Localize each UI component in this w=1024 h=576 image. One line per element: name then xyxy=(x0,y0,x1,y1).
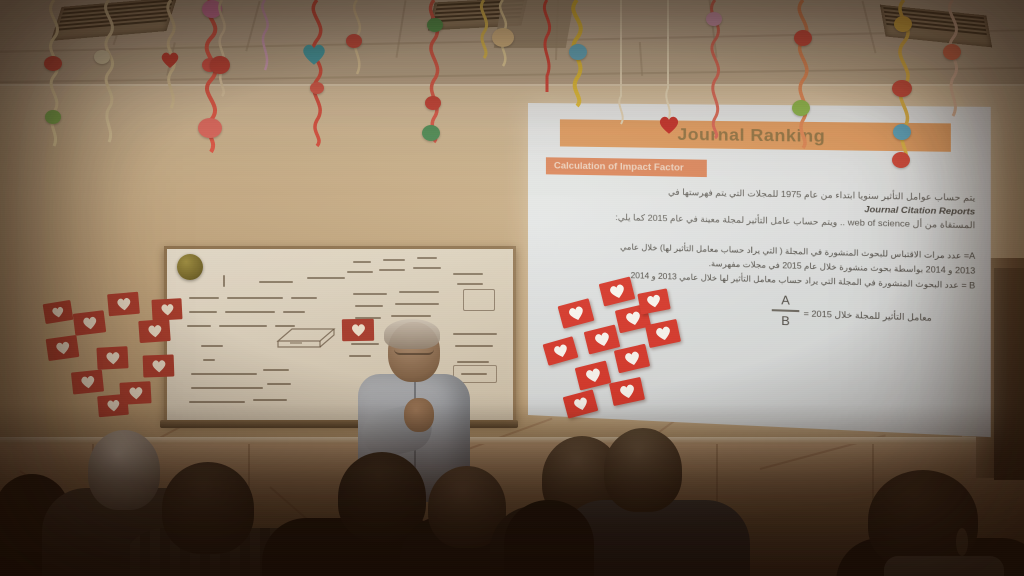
paper-dot xyxy=(893,124,911,140)
heart-card xyxy=(107,292,140,317)
fraction-numerator: A xyxy=(772,294,800,307)
paper-dot xyxy=(422,125,440,141)
paper-dot xyxy=(569,44,587,60)
spiral-ribbon-icon xyxy=(938,0,968,130)
audience-ear xyxy=(956,528,968,556)
paper-dot xyxy=(794,30,812,46)
spiral-ribbon-icon xyxy=(36,0,72,160)
paper-dot xyxy=(706,12,722,26)
spiral-ribbon-icon xyxy=(472,0,496,60)
paper-dot xyxy=(892,152,910,168)
paper-dot xyxy=(894,16,912,32)
impact-factor-formula-label: معامل التأثير للمجلة خلال 2015 = xyxy=(804,308,932,324)
paper-dot xyxy=(792,100,810,116)
heart-card xyxy=(143,354,175,377)
fraction-denominator: B xyxy=(772,314,800,327)
heart-card xyxy=(96,346,128,370)
whiteboard-boxed-result xyxy=(463,289,495,311)
spiral-ribbon-icon xyxy=(300,0,334,150)
audience-head xyxy=(88,430,160,510)
wainscot-cap-rail xyxy=(0,437,1024,444)
heart-card xyxy=(151,298,182,321)
paper-dot xyxy=(44,56,62,71)
audience-head xyxy=(162,462,254,554)
paper-dot xyxy=(310,82,324,94)
heart-card xyxy=(138,319,170,343)
presenter-hand xyxy=(404,398,434,432)
paper-heart xyxy=(301,44,327,71)
paper-dot xyxy=(346,34,362,48)
wall-clock-icon xyxy=(177,254,203,280)
spiral-ribbon-icon xyxy=(92,0,126,150)
paper-dot xyxy=(943,44,961,60)
audience-collar xyxy=(884,556,1004,576)
paper-dot xyxy=(45,110,61,124)
fraction-bar xyxy=(772,309,800,311)
paper-dot xyxy=(427,18,443,32)
open-doorway xyxy=(994,268,1024,480)
slide-subtitle: Calculation of Impact Factor xyxy=(546,157,707,177)
audience-head xyxy=(604,428,682,512)
heart-card xyxy=(73,310,106,336)
lecture-hall-photo: Journal Ranking Calculation of Impact Fa… xyxy=(0,0,1024,576)
audience-shoulders xyxy=(504,500,594,576)
spiral-ribbon-icon xyxy=(254,0,276,78)
impact-factor-fraction: A B xyxy=(772,294,800,327)
paper-heart xyxy=(658,116,680,140)
thread-icon xyxy=(612,0,630,128)
paper-dot xyxy=(425,96,441,110)
slide-intro-paragraph: يتم حساب عوامل التأثير سنويا ابتداء من ع… xyxy=(548,183,975,232)
spiral-ribbon-icon xyxy=(210,0,234,100)
whiteboard-box-diagram xyxy=(272,321,340,351)
paper-dot xyxy=(892,80,912,97)
paper-dot xyxy=(198,118,222,138)
presenter-glasses xyxy=(394,346,434,355)
heart-card xyxy=(97,394,129,418)
paper-dot xyxy=(210,56,230,74)
presenter-hair xyxy=(384,319,440,349)
paper-heart xyxy=(160,52,180,74)
spiral-ribbon-icon xyxy=(786,0,820,150)
spiral-ribbon-icon xyxy=(536,0,558,95)
paper-dot xyxy=(94,50,110,64)
heart-card xyxy=(71,369,104,394)
heart-card xyxy=(46,335,80,361)
thread-icon xyxy=(658,0,678,132)
